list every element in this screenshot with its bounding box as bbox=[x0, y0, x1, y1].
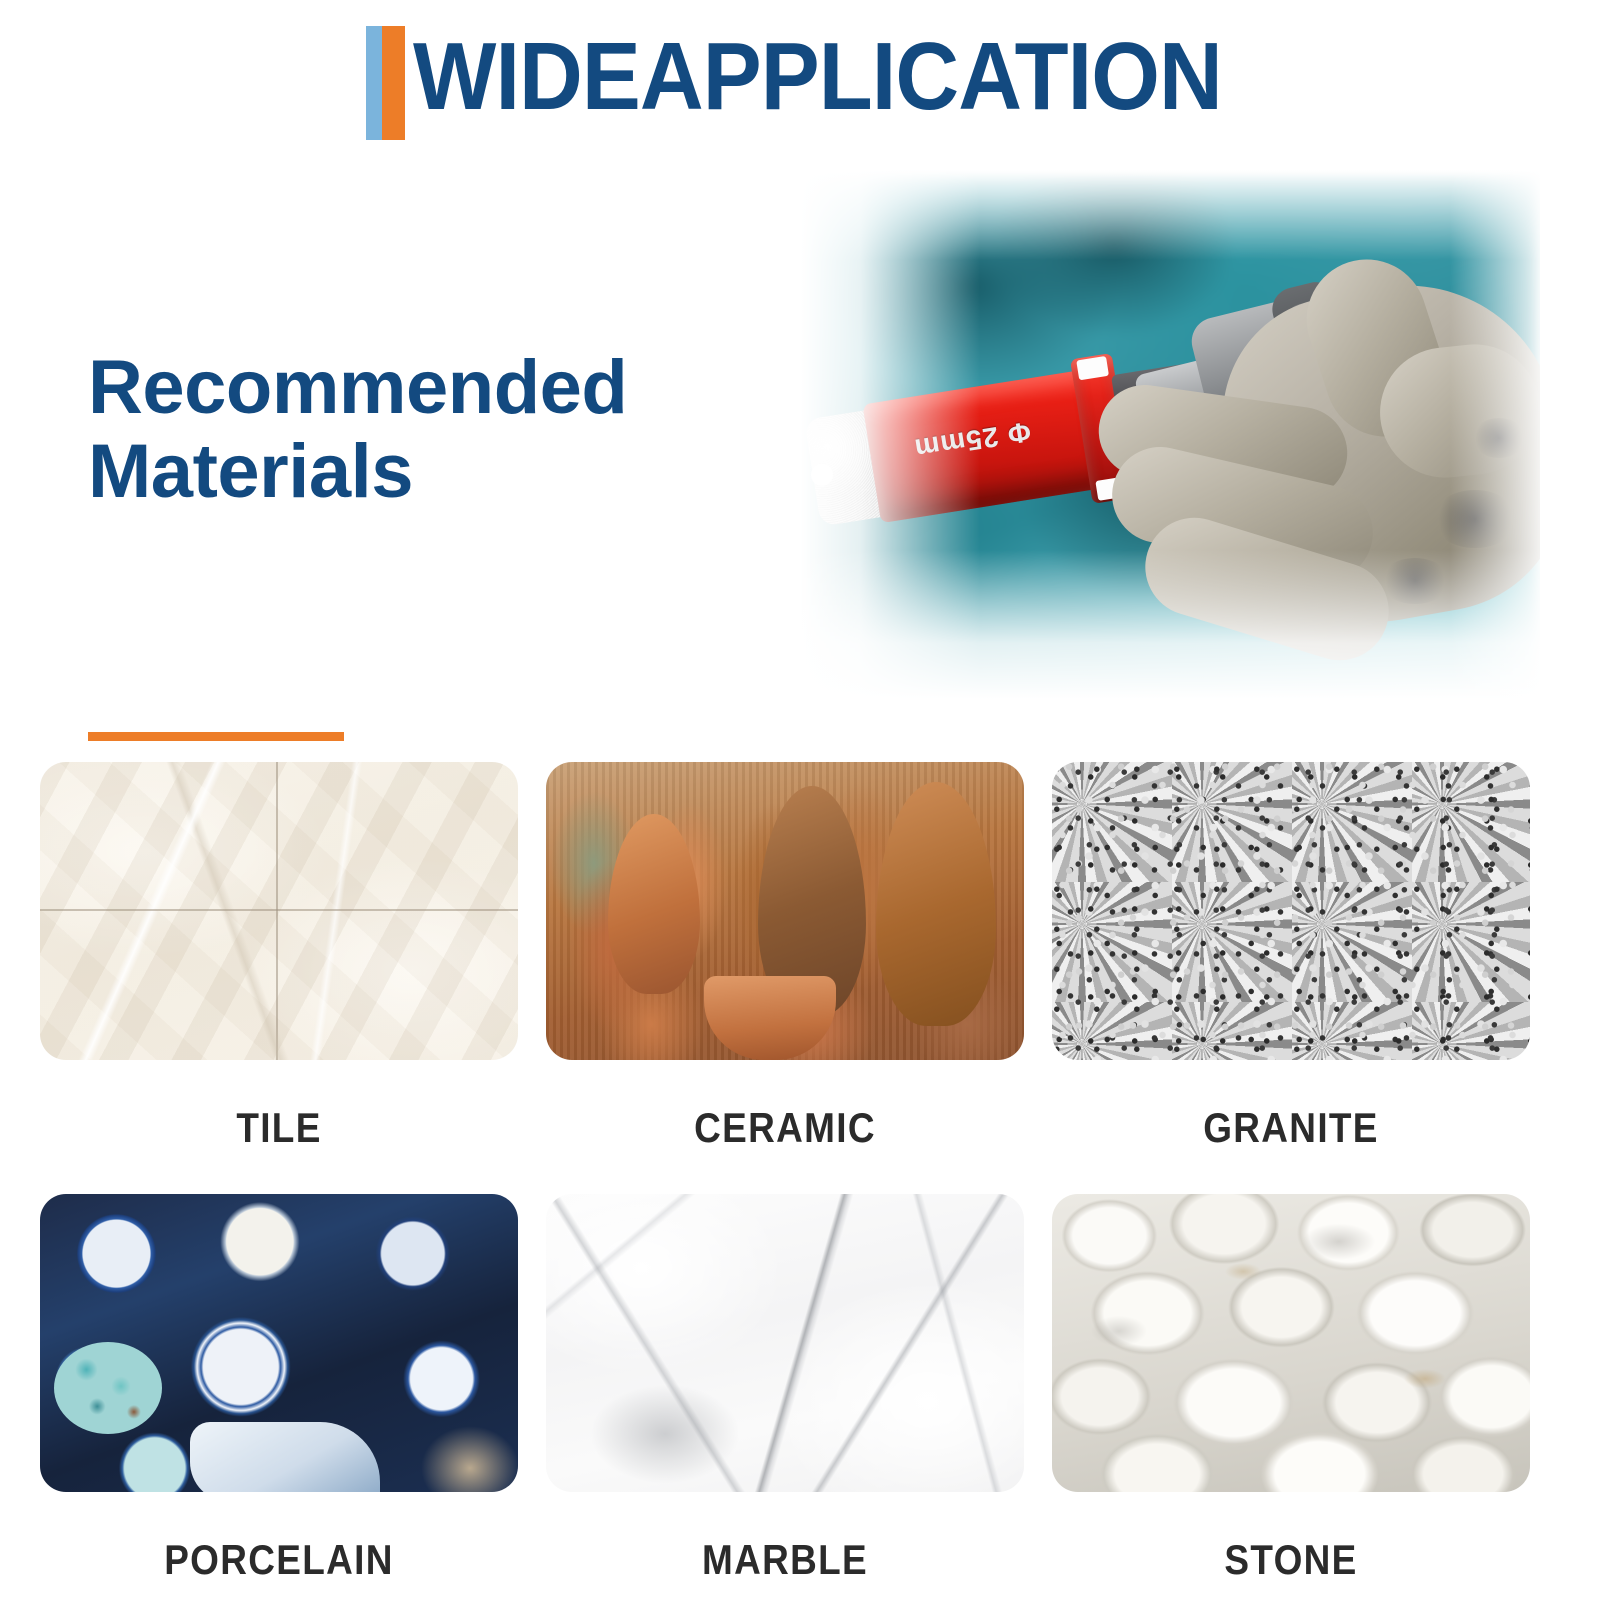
material-label: CERAMIC bbox=[575, 1060, 996, 1194]
stone-image bbox=[1052, 1194, 1530, 1492]
pebble-shading bbox=[1052, 1194, 1530, 1492]
clay-bowl bbox=[704, 976, 836, 1060]
header-lockup: WIDEAPPLICATION bbox=[366, 26, 1292, 140]
title-underline-rule bbox=[88, 732, 344, 741]
clay-vase bbox=[876, 782, 996, 1026]
granite-image bbox=[1052, 762, 1530, 1060]
material-label: PORCELAIN bbox=[69, 1492, 490, 1600]
marble-soft-patch bbox=[590, 1384, 740, 1484]
marble-image bbox=[546, 1194, 1024, 1492]
material-card-granite[interactable]: GRANITE bbox=[1052, 762, 1530, 1194]
infographic-page: WIDEAPPLICATION Recommended Materials Φ … bbox=[0, 0, 1600, 1600]
porcelain-shard bbox=[190, 1422, 380, 1492]
header-accent-bar-blue bbox=[366, 26, 382, 140]
clay-vase bbox=[608, 814, 700, 994]
material-label: MARBLE bbox=[575, 1492, 996, 1600]
material-label: GRANITE bbox=[1081, 1060, 1502, 1194]
ceramic-image bbox=[546, 762, 1024, 1060]
photo-fade-right bbox=[1450, 170, 1540, 700]
page-title: Recommended Materials bbox=[88, 346, 627, 514]
material-card-stone[interactable]: STONE bbox=[1052, 1194, 1530, 1600]
glass-marbles-bowl bbox=[54, 1342, 162, 1434]
material-card-marble[interactable]: MARBLE bbox=[546, 1194, 1024, 1600]
tile-image bbox=[40, 762, 518, 1060]
header-title: WIDEAPPLICATION bbox=[413, 21, 1222, 133]
recommended-materials-grid: TILE CERAMIC GRANITE PORCELAIN bbox=[40, 762, 1532, 1600]
material-card-ceramic[interactable]: CERAMIC bbox=[546, 762, 1024, 1194]
material-card-porcelain[interactable]: PORCELAIN bbox=[40, 1194, 518, 1600]
material-label: TILE bbox=[69, 1060, 490, 1194]
photo-fade-bottom bbox=[750, 550, 1540, 700]
porcelain-image bbox=[40, 1194, 518, 1492]
tile-veining bbox=[40, 762, 518, 1060]
material-card-tile[interactable]: TILE bbox=[40, 762, 518, 1194]
hero-section: Recommended Materials Φ 25mm bbox=[0, 160, 1600, 760]
header-accent-bar-orange bbox=[382, 26, 405, 140]
product-photo: Φ 25mm bbox=[750, 170, 1540, 700]
material-label: STONE bbox=[1081, 1492, 1502, 1600]
page-header: WIDEAPPLICATION bbox=[0, 0, 1600, 160]
